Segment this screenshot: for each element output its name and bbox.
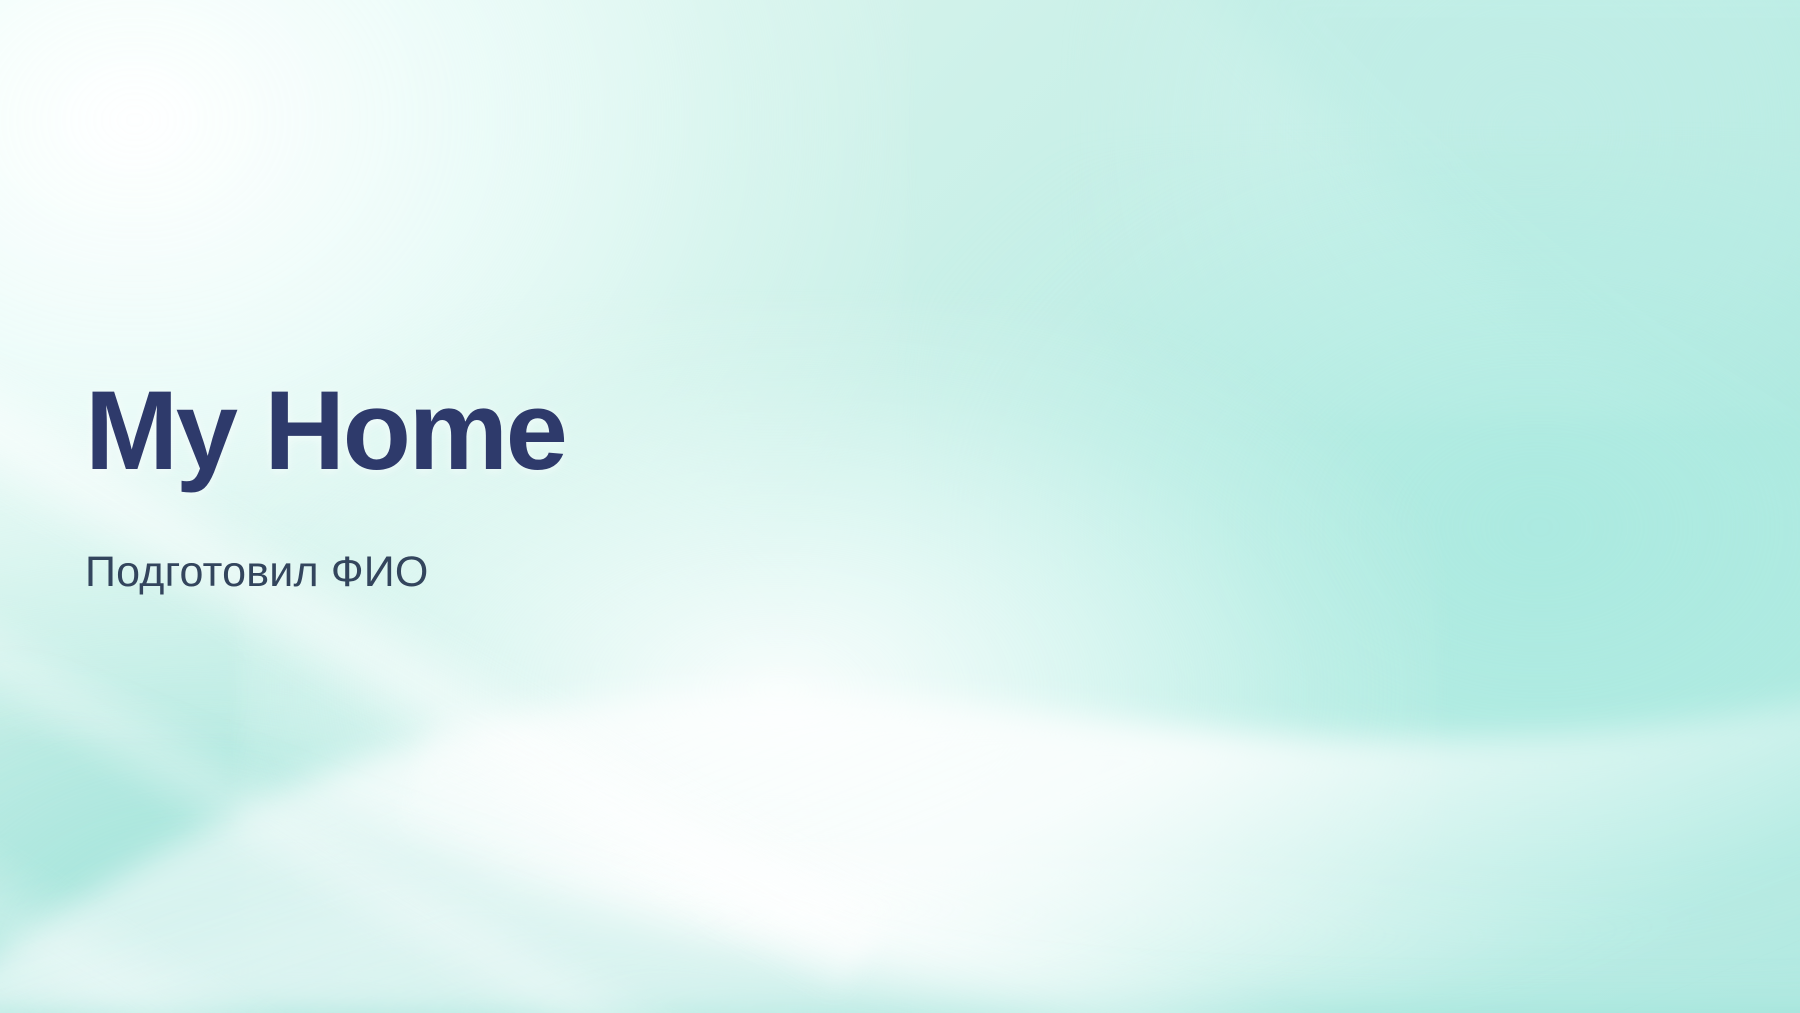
wave-streak-3 xyxy=(0,549,799,1013)
slide-title: My Home xyxy=(85,375,1185,487)
background-tint-top-right xyxy=(1080,0,1800,420)
wave-lower-white xyxy=(0,690,1800,1013)
wave-aqua-deep xyxy=(0,620,1800,1013)
wave-streak-5 xyxy=(0,945,1310,1013)
title-block: My Home Подготовил ФИО xyxy=(85,375,1185,596)
slide-subtitle: Подготовил ФИО xyxy=(85,487,1185,596)
wave-top-right-edge xyxy=(1180,0,1800,520)
title-slide: My Home Подготовил ФИО xyxy=(0,0,1800,1013)
wave-lower-secondary xyxy=(0,859,1800,1013)
wave-streak-4 xyxy=(394,695,1800,1013)
